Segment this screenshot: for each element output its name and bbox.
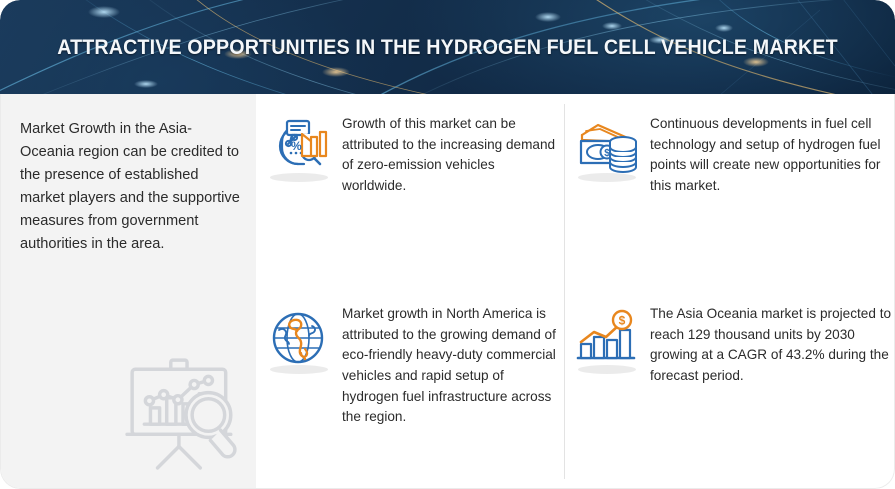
icon-shadow [578, 173, 636, 182]
insight-text: Continuous developments in fuel cell tec… [650, 112, 892, 197]
insight-cell-north-america: Market growth in North America is attrib… [264, 304, 560, 428]
insight-cell-fuel-cell-development: $ Continuous developments i [572, 112, 892, 197]
page-title: ATTRACTIVE OPPORTUNITIES IN THE HYDROGEN… [38, 0, 857, 94]
insight-text: The Asia Oceania market is projected to … [650, 304, 892, 387]
insight-text: Growth of this market can be attributed … [342, 112, 560, 197]
sidebar: Market Growth in the Asia-Oceania region… [1, 94, 256, 489]
infographic-card: ATTRACTIVE OPPORTUNITIES IN THE HYDROGEN… [0, 0, 895, 489]
insights-grid: % Growth of this market can be attribute… [256, 94, 895, 489]
icon-shadow [578, 365, 636, 374]
content-area: Market Growth in the Asia-Oceania region… [0, 94, 895, 489]
header-banner: ATTRACTIVE OPPORTUNITIES IN THE HYDROGEN… [0, 0, 895, 94]
svg-text:$: $ [619, 314, 626, 328]
insight-text: Market growth in North America is attrib… [342, 304, 560, 428]
money-cash-coins-icon: $ [572, 112, 644, 184]
column-divider [564, 104, 565, 479]
icon-shadow [270, 365, 328, 374]
insight-cell-asia-oceania-forecast: $ The Asia Oceania market is projected t… [572, 304, 892, 387]
insight-cell-market-growth: % Growth of this market can be attribute… [264, 112, 560, 197]
bar-chart-growth-dollar-icon: $ [572, 304, 644, 376]
market-analysis-icon: % [264, 112, 336, 184]
presentation-chart-magnifier-icon [123, 353, 245, 475]
globe-icon [264, 304, 336, 376]
svg-text:%: % [291, 139, 302, 153]
sidebar-paragraph: Market Growth in the Asia-Oceania region… [20, 118, 240, 256]
icon-shadow [270, 173, 328, 182]
